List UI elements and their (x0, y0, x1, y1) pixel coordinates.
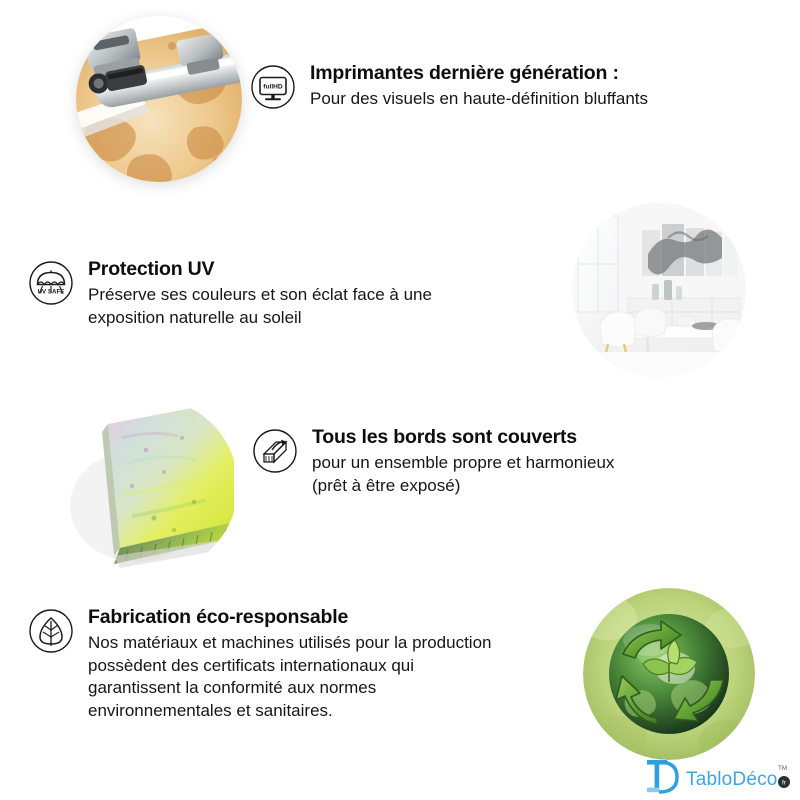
uv-safe-umbrella-icon: UV SAFE (28, 260, 74, 306)
feature-edges-title: Tous les bords sont couverts (312, 426, 702, 449)
feature-uv-protection: UV SAFE Protection UV Préserve ses coule… (28, 258, 518, 329)
dining-room-wall-art-photo (572, 202, 746, 378)
feature-eco-desc-line: garantissent la conformité aux normes (88, 677, 588, 699)
feature-uv-title: Protection UV (88, 258, 518, 281)
feature-printers-title: Imprimantes dernière génération : (310, 62, 720, 85)
feature-edges-desc-line: (prêt à être exposé) (312, 475, 702, 497)
feature-printers-desc: Pour des visuels en haute-définition blu… (310, 88, 720, 110)
feature-uv-desc-line: exposition naturelle au soleil (88, 307, 518, 329)
feature-printers-text: Imprimantes dernière génération : Pour d… (310, 62, 720, 111)
feature-eco-desc-line: Nos matériaux et machines utilisés pour … (88, 632, 588, 654)
feature-eco-manufacturing: Fabrication éco-responsable Nos matériau… (28, 606, 588, 722)
feature-uv-desc-line: Préserve ses couleurs et son éclat face … (88, 284, 518, 306)
feature-eco-desc: Nos matériaux et machines utilisés pour … (88, 632, 588, 722)
logo-wordmark: TabloDéco (686, 769, 778, 790)
promo-feature-sheet: fullHD Imprimantes dernière génération :… (0, 0, 800, 800)
wrapped-edges-icon (252, 428, 298, 474)
feature-edges-desc: pour un ensemble propre et harmonieux (p… (312, 452, 702, 497)
feature-edges-text: Tous les bords sont couverts pour un ens… (312, 426, 702, 497)
feature-uv-text: Protection UV Préserve ses couleurs et s… (88, 258, 518, 329)
feature-eco-text: Fabrication éco-responsable Nos matériau… (88, 606, 588, 722)
tablodeco-logo[interactable]: TabloDéco TM fr (645, 758, 795, 796)
svg-text:fullHD: fullHD (263, 84, 283, 91)
feature-eco-desc-line: environnementales et sanitaires. (88, 700, 588, 722)
large-format-printer-photo (76, 8, 242, 190)
feature-eco-title: Fabrication éco-responsable (88, 606, 588, 629)
feature-uv-desc: Préserve ses couleurs et son éclat face … (88, 284, 518, 329)
feature-eco-desc-line: possèdent des certificats internationaux… (88, 655, 588, 677)
svg-text:UV SAFE: UV SAFE (38, 289, 65, 296)
feature-edges-desc-line: pour un ensemble propre et harmonieux (312, 452, 702, 474)
leaf-eco-icon (28, 608, 74, 654)
feature-printers-desc-line: Pour des visuels en haute-définition blu… (310, 88, 720, 110)
feature-printers: fullHD Imprimantes dernière génération :… (250, 62, 720, 111)
canvas-wrapped-corner-photo (62, 398, 238, 574)
fullhd-monitor-icon: fullHD (250, 64, 296, 110)
feature-covered-edges: Tous les bords sont couverts pour un ens… (252, 426, 702, 497)
logo-trademark: TM (778, 765, 787, 772)
green-earth-recycling-photo (583, 588, 755, 760)
